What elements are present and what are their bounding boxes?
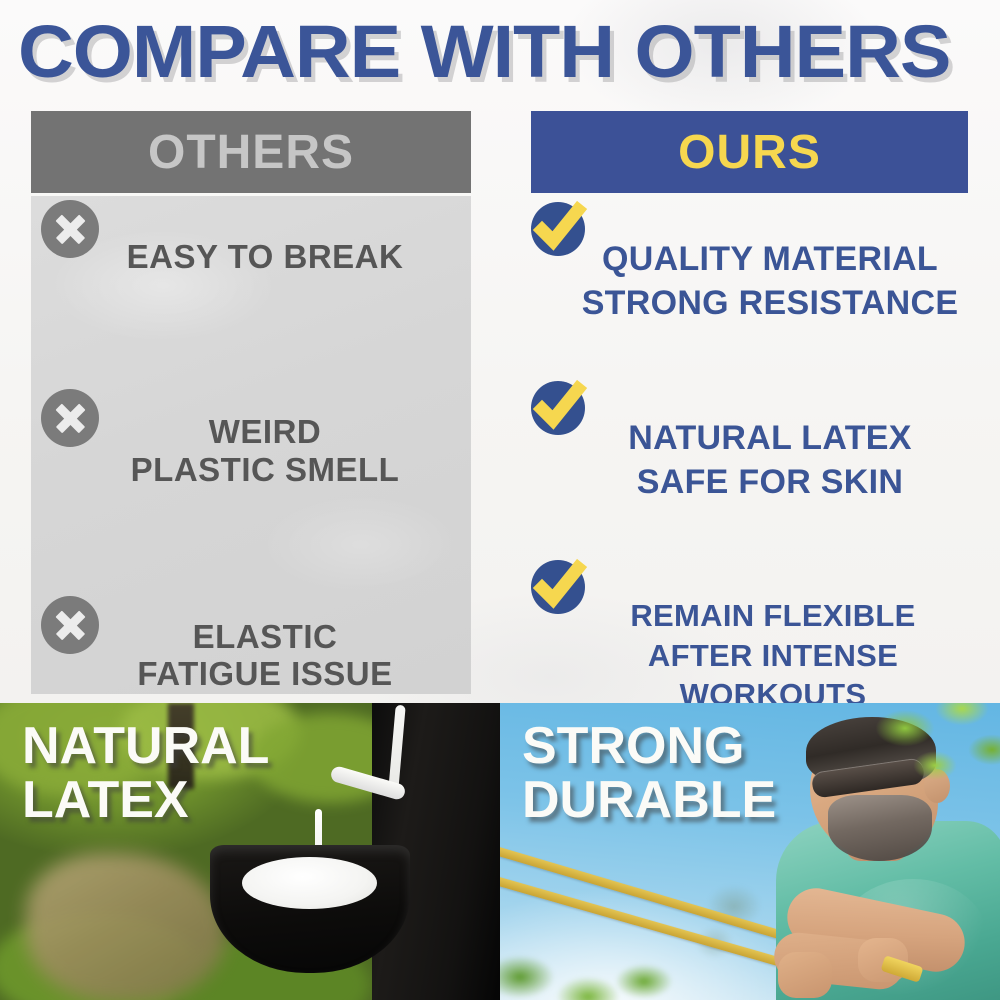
list-item-label: NATURAL LATEX SAFE FOR SKIN: [559, 417, 981, 504]
list-item-label: WEIRD PLASTIC SMELL: [99, 413, 465, 488]
column-ours: OURS: [531, 111, 968, 193]
page-title: COMPARE WITH OTHERS: [18, 14, 1000, 90]
person-beard: [828, 795, 932, 861]
foliage-top-right: [860, 703, 1000, 787]
x-circle-icon: [41, 200, 99, 258]
list-item: QUALITY MATERIAL STRONG RESISTANCE: [531, 202, 981, 325]
list-item-label: QUALITY MATERIAL STRONG RESISTANCE: [559, 238, 981, 325]
photo-strong-durable: STRONG DURABLE: [500, 703, 1000, 1000]
infographic-page: COMPARE WITH OTHERS OTHERS OURS EASY TO …: [0, 0, 1000, 1000]
column-header-others: OTHERS: [31, 111, 471, 193]
list-item: EASY TO BREAK: [31, 200, 471, 275]
check-circle-icon: [531, 381, 585, 435]
check-circle-icon: [531, 202, 585, 256]
check-circle-icon: [531, 560, 585, 614]
list-item: WEIRD PLASTIC SMELL: [31, 389, 471, 488]
ours-item-list: QUALITY MATERIAL STRONG RESISTANCE NATUR…: [531, 196, 981, 715]
photo-caption-natural-latex: NATURAL LATEX: [22, 719, 269, 827]
list-item: ELASTIC FATIGUE ISSUE: [31, 596, 471, 693]
foliage-bottom-left: [500, 900, 684, 1000]
list-item: NATURAL LATEX SAFE FOR SKIN: [531, 381, 981, 504]
x-circle-icon: [41, 389, 99, 447]
dirt-path: [26, 853, 226, 1000]
photo-strip: NATURAL LATEX STRONG DURABLE: [0, 703, 1000, 1000]
column-header-ours: OURS: [531, 111, 968, 193]
photo-caption-strong-durable: STRONG DURABLE: [522, 719, 776, 827]
list-item-label: REMAIN FLEXIBLE AFTER INTENSE WORKOUTS: [565, 596, 981, 715]
latex-liquid: [242, 857, 377, 909]
list-item: REMAIN FLEXIBLE AFTER INTENSE WORKOUTS: [531, 560, 981, 715]
others-item-list: EASY TO BREAK WEIRD PLASTIC SMELL ELASTI…: [31, 196, 471, 692]
list-item-label: ELASTIC FATIGUE ISSUE: [99, 618, 465, 693]
photo-natural-latex: NATURAL LATEX: [0, 703, 500, 1000]
x-circle-icon: [41, 596, 99, 654]
list-item-label: EASY TO BREAK: [99, 238, 465, 275]
person-hand: [778, 952, 832, 998]
